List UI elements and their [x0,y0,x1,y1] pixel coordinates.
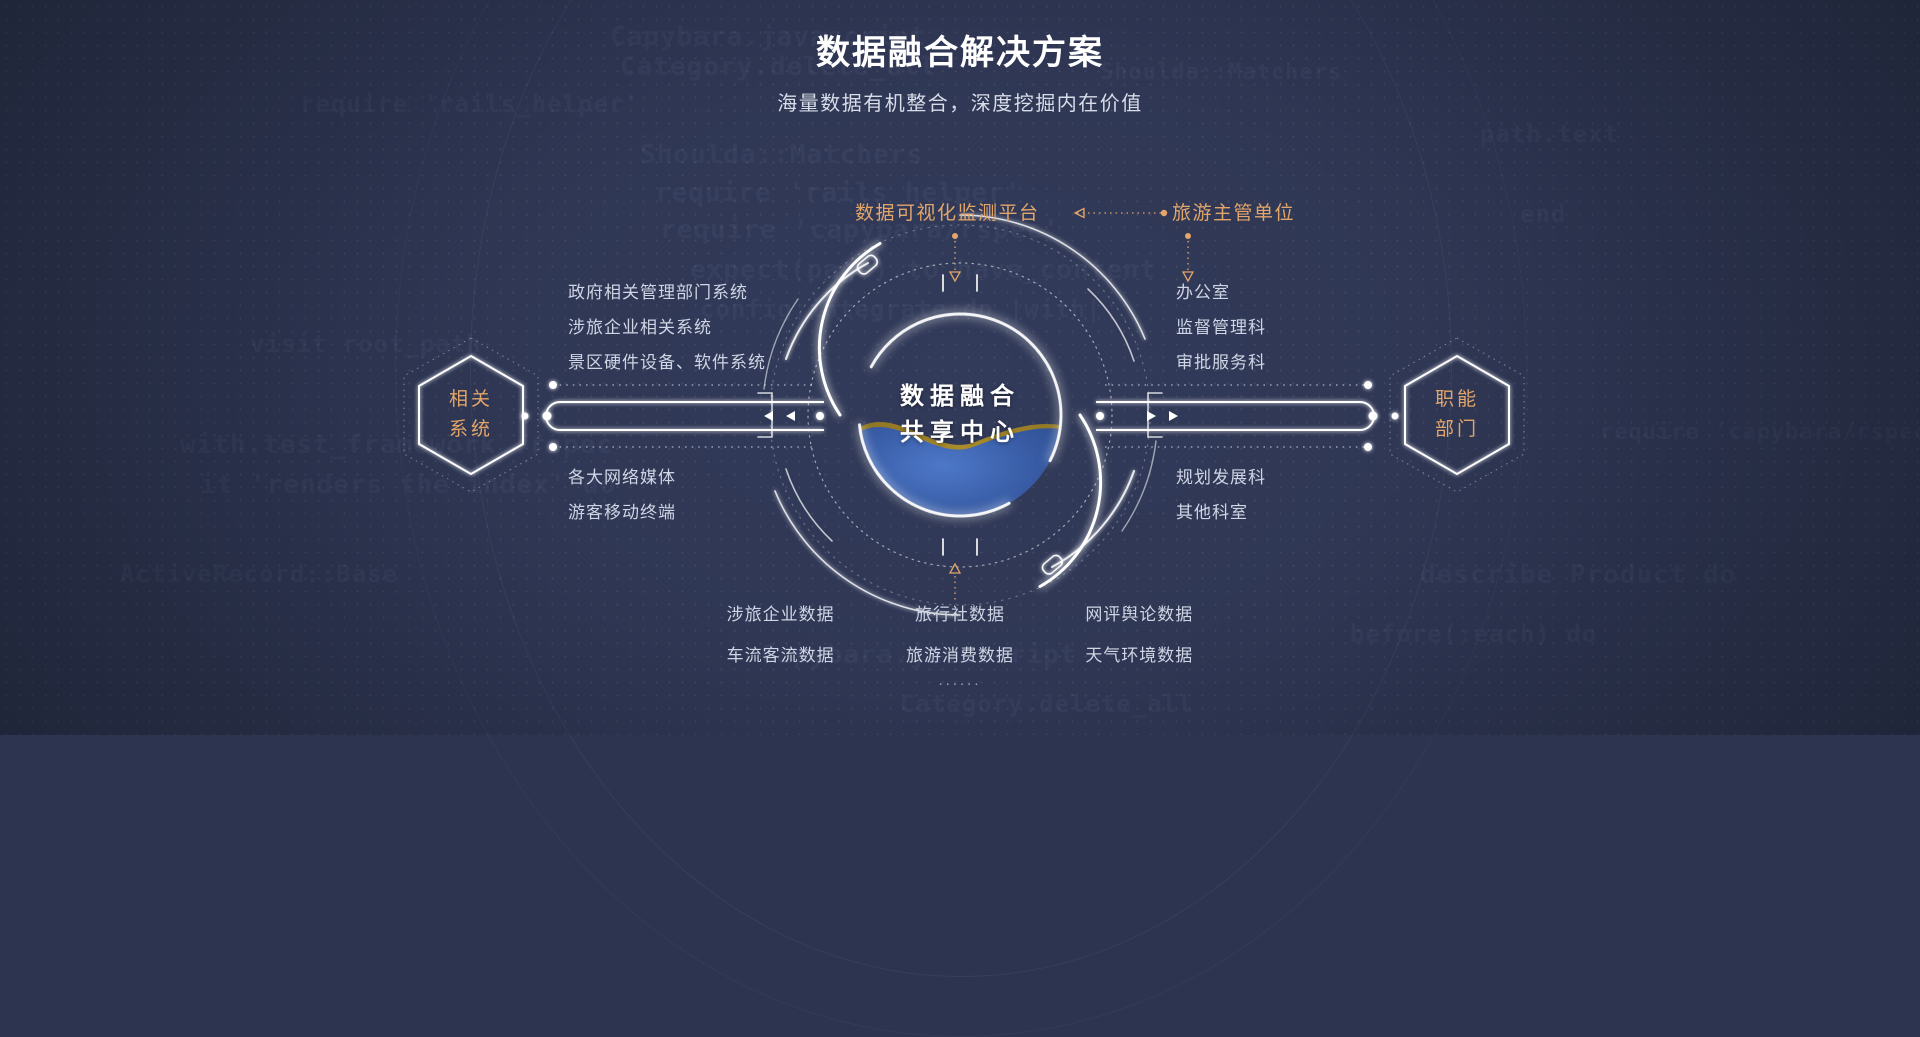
label-visualization-platform[interactable]: 数据可视化监测平台 [855,198,1040,225]
arrow-up-icon [950,564,960,573]
dept-item: 其他科室 [1176,495,1266,530]
top-connector-arrow [1063,206,1171,220]
page-title: 数据融合解决方案 [0,32,1920,75]
dropper-visualization [949,232,961,284]
hexagon-related-systems[interactable]: 相关 系统 [386,330,556,500]
data-item: 涉旅企业数据 [700,600,861,625]
data-item: 网评舆论数据 [1059,600,1220,625]
dept-item: 规划发展科 [1176,460,1266,495]
label-tourism-authority[interactable]: 旅游主管单位 [1172,198,1295,225]
bottom-ellipsis: ...... [700,672,1220,689]
source-item: 涉旅企业相关系统 [568,310,766,345]
hexagon-right-label: 职能 部门 [1372,385,1542,445]
hexagon-functional-depts[interactable]: 职能 部门 [1372,330,1542,500]
hexagon-right-line2: 部门 [1372,415,1542,445]
right-depts-top: 办公室监督管理科审批服务科 [1176,275,1266,380]
page-subtitle: 海量数据有机整合，深度挖掘内在价值 [0,87,1920,116]
source-item: 景区硬件设备、软件系统 [568,345,766,380]
hexagon-left-line1: 相关 [386,385,556,415]
hexagon-left-label: 相关 系统 [386,385,556,445]
data-item: 天气环境数据 [1059,641,1220,666]
dept-item: 审批服务科 [1176,345,1266,380]
page-header: 数据融合解决方案 海量数据有机整合，深度挖掘内在价值 [0,32,1920,116]
source-item: 游客移动终端 [568,495,676,530]
dot-marker [1161,210,1167,216]
dot-marker [952,233,958,239]
bottom-data-grid: 涉旅企业数据旅行社数据网评舆论数据车流客流数据旅游消费数据天气环境数据 [700,600,1220,666]
arrow-down-icon [950,272,960,281]
data-item: 旅行社数据 [879,600,1040,625]
data-item: 车流客流数据 [700,641,861,666]
source-item: 政府相关管理部门系统 [568,275,766,310]
left-sources-bottom: 各大网络媒体游客移动终端 [568,460,676,530]
hexagon-right-line1: 职能 [1372,385,1542,415]
source-item: 各大网络媒体 [568,460,676,495]
hexagon-left-line2: 系统 [386,415,556,445]
dept-item: 监督管理科 [1176,310,1266,345]
left-sources-top: 政府相关管理部门系统涉旅企业相关系统景区硬件设备、软件系统 [568,275,766,380]
dot-marker [1185,233,1191,239]
dept-item: 办公室 [1176,275,1266,310]
right-depts-bottom: 规划发展科其他科室 [1176,460,1266,530]
data-item: 旅游消费数据 [879,641,1040,666]
core-sphere: 数据融合 共享中心 [835,290,1085,540]
